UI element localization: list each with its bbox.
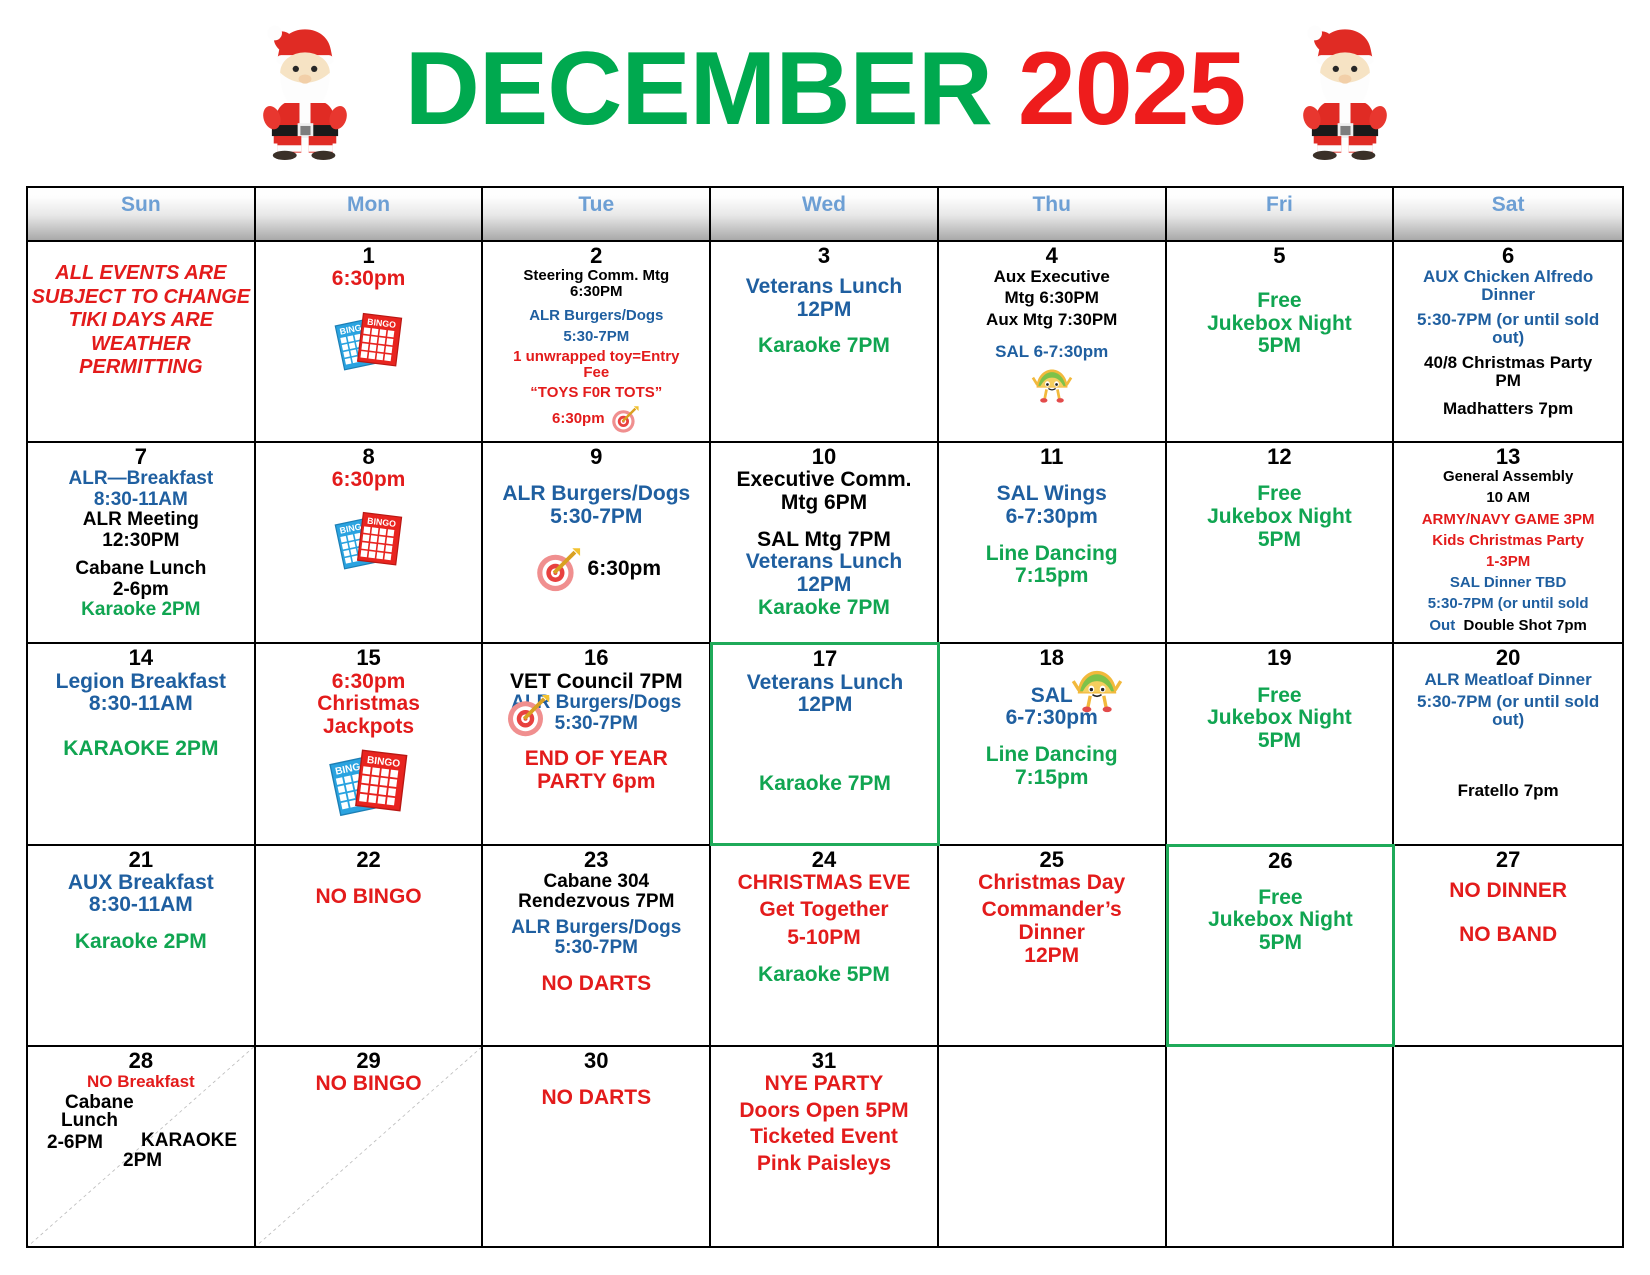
day-cell-13[interactable]: 13 General Assembly 10 AM ARMY/NAVY GAME… xyxy=(1394,443,1622,642)
event-text: Karaoke 5PM xyxy=(714,964,934,987)
dow-mon: Mon xyxy=(256,188,484,240)
dart-icon xyxy=(532,543,584,595)
event-text: 12PM xyxy=(714,299,934,322)
event-text: 5:30-7PM xyxy=(486,506,706,529)
day-events: Steering Comm. Mtg 6:30PM ALR Burgers/Do… xyxy=(486,268,706,435)
event-text: 5:30-7PM (or until sold xyxy=(1397,311,1619,329)
day-events: ALR—Breakfast 8:30-11AM ALR Meeting 12:3… xyxy=(31,469,251,621)
event-text: Mtg 6PM xyxy=(714,492,934,515)
event-text: 7:15pm xyxy=(942,767,1162,790)
day-events: 6:30pm xyxy=(259,469,479,492)
day-number: 23 xyxy=(584,848,608,871)
event-text: Jukebox Night xyxy=(1170,707,1390,730)
event-text: 10 AM xyxy=(1397,490,1619,506)
dow-thu: Thu xyxy=(939,188,1167,240)
event-text: Line Dancing xyxy=(942,744,1162,767)
day-events: Executive Comm. Mtg 6PM SAL Mtg 7PM Vete… xyxy=(714,469,934,619)
day-cell-28[interactable]: 28 NO Breakfast Cabane Lunch 2-6PM KARAO… xyxy=(28,1047,256,1246)
event-text: 1-3PM xyxy=(1397,554,1619,570)
day-cell-8[interactable]: 8 6:30pm BINGO xyxy=(256,443,484,642)
event-text: Doors Open 5PM xyxy=(714,1100,934,1123)
event-text: 12PM xyxy=(716,694,934,717)
event-text: SAL Wings xyxy=(942,483,1162,506)
event-text: SAL Dinner TBD xyxy=(1397,575,1619,591)
event-text: Jackpots xyxy=(259,716,479,739)
day-number: 30 xyxy=(584,1049,608,1072)
event-text: Dinner xyxy=(1397,286,1619,304)
event-text: PM xyxy=(1397,372,1619,390)
event-text: SAL Mtg 7PM xyxy=(714,529,934,552)
event-text: Veterans Lunch xyxy=(716,672,934,695)
day-cell-7[interactable]: 7 ALR—Breakfast 8:30-11AM ALR Meeting 12… xyxy=(28,443,256,642)
day-events: AUX Breakfast 8:30-11AM Karaoke 2PM xyxy=(31,872,251,954)
event-text: ALR—Breakfast xyxy=(31,469,251,490)
day-cell-6[interactable]: 6 AUX Chicken Alfredo Dinner 5:30-7PM (o… xyxy=(1394,242,1622,441)
event-text: 6:30pm xyxy=(259,671,479,694)
day-events: General Assembly 10 AM ARMY/NAVY GAME 3P… xyxy=(1397,469,1619,634)
dow-wed: Wed xyxy=(711,188,939,240)
day-events: SAL Wings 6-7:30pm Line Dancing 7:15pm xyxy=(942,469,1162,588)
day-cell-1[interactable]: 1 6:30pm BINGO xyxy=(256,242,484,441)
event-text: 2PM xyxy=(123,1151,162,1172)
day-cell-29[interactable]: 29 NO BINGO xyxy=(256,1047,484,1246)
day-events: NO Breakfast Cabane Lunch 2-6PM KARAOKE … xyxy=(31,1073,251,1091)
day-number: 4 xyxy=(1046,244,1058,267)
day-number: 15 xyxy=(356,646,380,669)
event-text: 5PM xyxy=(1170,335,1390,358)
event-text: 5PM xyxy=(1172,932,1390,955)
day-cell-23[interactable]: 23 Cabane 304 Rendezvous 7PM ALR Burgers… xyxy=(483,846,711,1045)
dow-sun: Sun xyxy=(28,188,256,240)
day-events: Veterans Lunch 12PM Karaoke 7PM xyxy=(716,672,934,796)
day-number: 17 xyxy=(813,647,837,670)
day-events: ALR Meatloaf Dinner 5:30-7PM (or until s… xyxy=(1397,671,1619,800)
event-text: out) xyxy=(1397,329,1619,347)
event-text: CHRISTMAS EVE xyxy=(714,872,934,895)
bingo-icon: BINGO BINGO xyxy=(333,309,405,373)
day-events: NO BINGO xyxy=(259,872,479,909)
week-row: 21 AUX Breakfast 8:30-11AM Karaoke 2PM 2… xyxy=(28,846,1622,1047)
event-text: NO BAND xyxy=(1397,924,1619,947)
event-text: Madhatters 7pm xyxy=(1397,400,1619,418)
event-text: 5:30-7PM (or until sold xyxy=(1397,693,1619,711)
event-text: Dinner xyxy=(942,922,1162,945)
day-number: 20 xyxy=(1496,646,1520,669)
day-number: 7 xyxy=(135,445,147,468)
event-text: 2-6pm xyxy=(31,580,251,601)
event-text: ALR Meatloaf Dinner xyxy=(1397,671,1619,689)
event-text: 6:30pm xyxy=(588,557,662,581)
day-events: CHRISTMAS EVE Get Together 5-10PM Karaok… xyxy=(714,872,934,987)
event-text: Legion Breakfast xyxy=(31,671,251,694)
santa-icon xyxy=(1299,22,1391,160)
day-cell-31[interactable]: 31 NYE PARTY Doors Open 5PM Ticketed Eve… xyxy=(711,1047,939,1246)
day-events: Free Jukebox Night 5PM xyxy=(1172,873,1390,955)
week-row: ALL EVENTS ARE SUBJECT TO CHANGE TIKI DA… xyxy=(28,242,1622,443)
event-text: KARAOKE 2PM xyxy=(31,738,251,761)
title-month: DECEMBER xyxy=(405,31,992,147)
event-text: Kids Christmas Party xyxy=(1397,533,1619,549)
calendar-page: DECEMBER2025 xyxy=(0,0,1650,1275)
event-text: Free xyxy=(1170,290,1390,313)
event-text: Executive Comm. xyxy=(714,469,934,492)
event-text: 6:30pm xyxy=(259,268,479,291)
event-text: PARTY 6pm xyxy=(486,771,706,794)
day-number: 26 xyxy=(1268,849,1292,872)
day-number: 28 xyxy=(129,1049,153,1072)
day-cell-3[interactable]: 3 Veterans Lunch 12PM Karaoke 7PM xyxy=(711,242,939,441)
event-text: END OF YEAR xyxy=(486,748,706,771)
day-cell-16[interactable]: 16 VET Council 7PM ALR Burgers/Dogs 5:30… xyxy=(483,644,711,843)
event-text: 8:30-11AM xyxy=(31,693,251,716)
day-events: NYE PARTY Doors Open 5PM Ticketed Event … xyxy=(714,1073,934,1176)
day-cell-10[interactable]: 10 Executive Comm. Mtg 6PM SAL Mtg 7PM V… xyxy=(711,443,939,642)
dart-icon xyxy=(609,403,641,435)
bingo-icon: BINGO BINGO xyxy=(333,508,405,572)
day-events: NO DINNER NO BAND xyxy=(1397,872,1619,947)
event-text: Cabane 304 xyxy=(486,872,706,893)
event-text: ALR Burgers/Dogs xyxy=(486,483,706,506)
event-text: Karaoke 2PM xyxy=(31,931,251,954)
day-cell-30[interactable]: 30 NO DARTS xyxy=(483,1047,711,1246)
event-text: SAL xyxy=(942,685,1162,708)
event-text: Jukebox Night xyxy=(1172,909,1390,932)
day-cell-19[interactable]: 19 Free Jukebox Night 5PM xyxy=(1167,644,1395,843)
day-events: 6:30pm Christmas Jackpots xyxy=(259,671,479,739)
day-number: 11 xyxy=(1040,445,1063,468)
event-text: Veterans Lunch xyxy=(714,276,934,299)
event-text: 8:30-11AM xyxy=(31,894,251,917)
event-text: General Assembly xyxy=(1397,469,1619,485)
day-number: 1 xyxy=(362,244,374,267)
day-number: 6 xyxy=(1502,244,1514,267)
taco-icon xyxy=(1071,664,1123,714)
event-text: Rendezvous 7PM xyxy=(486,892,706,913)
day-events: NO DARTS xyxy=(486,1073,706,1110)
week-row: 14 Legion Breakfast 8:30-11AM KARAOKE 2P… xyxy=(28,644,1622,845)
day-cell-26[interactable]: 26 Free Jukebox Night 5PM xyxy=(1166,844,1396,1047)
day-events: Legion Breakfast 8:30-11AM KARAOKE 2PM xyxy=(31,671,251,761)
day-cell-notice[interactable]: ALL EVENTS ARE SUBJECT TO CHANGE TIKI DA… xyxy=(28,242,256,441)
day-events: Veterans Lunch 12PM Karaoke 7PM xyxy=(714,268,934,358)
event-text-group: Out Double Shot 7pm xyxy=(1397,618,1619,634)
day-number: 21 xyxy=(129,848,153,871)
day-events: AUX Chicken Alfredo Dinner 5:30-7PM (or … xyxy=(1397,268,1619,419)
day-number: 18 xyxy=(1039,646,1063,669)
day-events: 6:30pm xyxy=(259,268,479,291)
event-text: KARAOKE xyxy=(141,1131,237,1152)
day-events: ALR Burgers/Dogs 5:30-7PM xyxy=(486,469,706,528)
event-text: 7:15pm xyxy=(942,565,1162,588)
event-text: Get Together xyxy=(714,899,934,922)
event-text: Christmas xyxy=(259,693,479,716)
event-text: 5:30-7PM (or until sold xyxy=(1397,596,1619,612)
dow-fri: Fri xyxy=(1167,188,1395,240)
event-text: NO DINNER xyxy=(1397,880,1619,903)
taco-icon xyxy=(1031,364,1073,404)
day-events: Aux Executive Mtg 6:30PM Aux Mtg 7:30PM … xyxy=(942,268,1162,361)
event-text: 40/8 Christmas Party xyxy=(1397,354,1619,372)
event-text: Free xyxy=(1170,483,1390,506)
day-cell-empty xyxy=(939,1047,1167,1246)
event-text: NO Breakfast xyxy=(31,1073,251,1091)
day-cell-27[interactable]: 27 NO DINNER NO BAND xyxy=(1394,846,1622,1045)
dart-icon xyxy=(503,690,553,740)
day-number: 25 xyxy=(1039,848,1063,871)
day-cell-18[interactable]: 18 SAL 6-7:30pm Line Dancing 7:15pm xyxy=(939,644,1167,843)
event-text: ALR Burgers/Dogs xyxy=(486,918,706,939)
day-cell-20[interactable]: 20 ALR Meatloaf Dinner 5:30-7PM (or unti… xyxy=(1394,644,1622,843)
day-cell-25[interactable]: 25 Christmas Day Commander’s Dinner 12PM xyxy=(939,846,1167,1045)
day-number: 19 xyxy=(1267,646,1291,669)
title-year: 2025 xyxy=(1018,31,1245,147)
bingo-icon: BINGO BINGO xyxy=(327,745,411,819)
event-text: 6-7:30pm xyxy=(942,506,1162,529)
event-text: Cabane Lunch xyxy=(31,559,251,580)
event-text: Jukebox Night xyxy=(1170,313,1390,336)
day-cell-empty xyxy=(1167,1047,1395,1246)
day-number: 27 xyxy=(1496,848,1520,871)
event-text: Fee xyxy=(486,365,706,381)
event-text: AUX Chicken Alfredo xyxy=(1397,268,1619,286)
event-text: SAL 6-7:30pm xyxy=(942,343,1162,361)
day-cell-4[interactable]: 4 Aux Executive Mtg 6:30PM Aux Mtg 7:30P… xyxy=(939,242,1167,441)
day-cell-5[interactable]: 5 Free Jukebox Night 5PM xyxy=(1167,242,1395,441)
event-text: Mtg 6:30PM xyxy=(942,289,1162,307)
day-cell-14[interactable]: 14 Legion Breakfast 8:30-11AM KARAOKE 2P… xyxy=(28,644,256,843)
event-text: Fratello 7pm xyxy=(1397,782,1619,800)
event-text: ARMY/NAVY GAME 3PM xyxy=(1397,512,1619,528)
day-cell-9[interactable]: 9 ALR Burgers/Dogs 5:30-7PM 6:30pm xyxy=(483,443,711,642)
notice-text: ALL EVENTS ARE SUBJECT TO CHANGE TIKI DA… xyxy=(31,262,251,380)
day-number: 9 xyxy=(590,445,602,468)
event-text: 1 unwrapped toy=Entry xyxy=(486,349,706,365)
event-text: Double Shot 7pm xyxy=(1464,617,1587,634)
dow-sat: Sat xyxy=(1394,188,1622,240)
event-text: 8:30-11AM xyxy=(31,490,251,511)
calendar-grid: Sun Mon Tue Wed Thu Fri Sat ALL EVENTS A… xyxy=(26,186,1624,1248)
event-text: 5PM xyxy=(1170,730,1390,753)
week-row: 7 ALR—Breakfast 8:30-11AM ALR Meeting 12… xyxy=(28,443,1622,644)
day-cell-15[interactable]: 15 6:30pm Christmas Jackpots BINGO xyxy=(256,644,484,843)
day-number: 22 xyxy=(356,848,380,871)
event-text: 12:30PM xyxy=(31,531,251,552)
event-text: 12PM xyxy=(942,945,1162,968)
day-events: Christmas Day Commander’s Dinner 12PM xyxy=(942,872,1162,968)
event-text: 2-6PM xyxy=(47,1133,103,1154)
event-text: Pink Paisleys xyxy=(714,1153,934,1176)
day-events: Free Jukebox Night 5PM xyxy=(1170,469,1390,551)
event-text: 5-10PM xyxy=(714,927,934,950)
event-text: Steering Comm. Mtg xyxy=(486,268,706,284)
day-number: 31 xyxy=(812,1049,836,1072)
day-events: NO BINGO xyxy=(259,1073,479,1096)
event-text: 6-7:30pm xyxy=(942,707,1162,730)
day-number: 12 xyxy=(1267,445,1291,468)
day-cell-empty xyxy=(1394,1047,1622,1246)
day-number: 13 xyxy=(1496,445,1520,468)
event-text: NO BINGO xyxy=(259,886,479,909)
day-cell-12[interactable]: 12 Free Jukebox Night 5PM xyxy=(1167,443,1395,642)
day-events: SAL 6-7:30pm Line Dancing 7:15pm xyxy=(942,671,1162,790)
event-text: 6:30pm xyxy=(259,469,479,492)
event-text: Line Dancing xyxy=(942,543,1162,566)
event-text: 12PM xyxy=(714,574,934,597)
event-text: out) xyxy=(1397,711,1619,729)
day-number: 14 xyxy=(129,646,153,669)
day-cell-11[interactable]: 11 SAL Wings 6-7:30pm Line Dancing 7:15p… xyxy=(939,443,1167,642)
calendar-header: DECEMBER2025 xyxy=(0,0,1650,178)
day-number: 10 xyxy=(812,445,836,468)
day-number: 24 xyxy=(812,848,836,871)
event-text: Lunch xyxy=(61,1111,118,1132)
day-cell-24[interactable]: 24 CHRISTMAS EVE Get Together 5-10PM Kar… xyxy=(711,846,939,1045)
event-text: 5:30-7PM xyxy=(486,938,706,959)
day-cell-2[interactable]: 2 Steering Comm. Mtg 6:30PM ALR Burgers/… xyxy=(483,242,711,441)
event-text: NO DARTS xyxy=(486,973,706,996)
day-cell-17[interactable]: 17 Veterans Lunch 12PM Karaoke 7PM xyxy=(710,642,940,845)
week-row: 28 NO Breakfast Cabane Lunch 2-6PM KARAO… xyxy=(28,1047,1622,1246)
event-text: Out xyxy=(1429,617,1455,634)
day-number: 16 xyxy=(584,646,608,669)
event-text: 5PM xyxy=(1170,529,1390,552)
event-text: Christmas Day xyxy=(942,872,1162,895)
event-text: “TOYS F0R TOTS” xyxy=(486,385,706,401)
event-text: Karaoke 7PM xyxy=(714,597,934,620)
event-text: Jukebox Night xyxy=(1170,506,1390,529)
event-text: Commander’s xyxy=(942,899,1162,922)
santa-icon xyxy=(259,22,351,160)
event-text: Free xyxy=(1172,887,1390,910)
event-text: 6:30PM xyxy=(486,284,706,300)
dow-tue: Tue xyxy=(483,188,711,240)
day-number: 8 xyxy=(362,445,374,468)
event-text: ALR Meeting xyxy=(31,510,251,531)
event-text: Karaoke 2PM xyxy=(31,600,251,621)
day-number: 29 xyxy=(356,1049,380,1072)
day-number: 3 xyxy=(818,244,830,267)
event-text: Free xyxy=(1170,685,1390,708)
day-cell-22[interactable]: 22 NO BINGO xyxy=(256,846,484,1045)
day-events: Free Jukebox Night 5PM xyxy=(1170,268,1390,358)
day-events: Cabane 304 Rendezvous 7PM ALR Burgers/Do… xyxy=(486,872,706,996)
event-text: NO DARTS xyxy=(486,1087,706,1110)
event-text: 5:30-7PM xyxy=(486,329,706,345)
event-text: AUX Breakfast xyxy=(31,872,251,895)
day-of-week-row: Sun Mon Tue Wed Thu Fri Sat xyxy=(28,188,1622,242)
event-text: 6:30pm xyxy=(552,411,605,427)
event-text: Aux Executive xyxy=(942,268,1162,286)
event-text: Aux Mtg 7:30PM xyxy=(942,311,1162,329)
page-title: DECEMBER2025 xyxy=(405,37,1246,141)
event-text: NYE PARTY xyxy=(714,1073,934,1096)
day-events: Free Jukebox Night 5PM xyxy=(1170,671,1390,753)
event-text: NO BINGO xyxy=(259,1073,479,1096)
event-text: ALR Burgers/Dogs xyxy=(486,308,706,324)
day-number: 2 xyxy=(590,244,602,267)
event-text: Karaoke 7PM xyxy=(716,773,934,796)
day-cell-21[interactable]: 21 AUX Breakfast 8:30-11AM Karaoke 2PM xyxy=(28,846,256,1045)
event-text: Ticketed Event xyxy=(714,1126,934,1149)
event-text: Karaoke 7PM xyxy=(714,335,934,358)
event-text: Veterans Lunch xyxy=(714,551,934,574)
day-number: 5 xyxy=(1273,244,1285,267)
